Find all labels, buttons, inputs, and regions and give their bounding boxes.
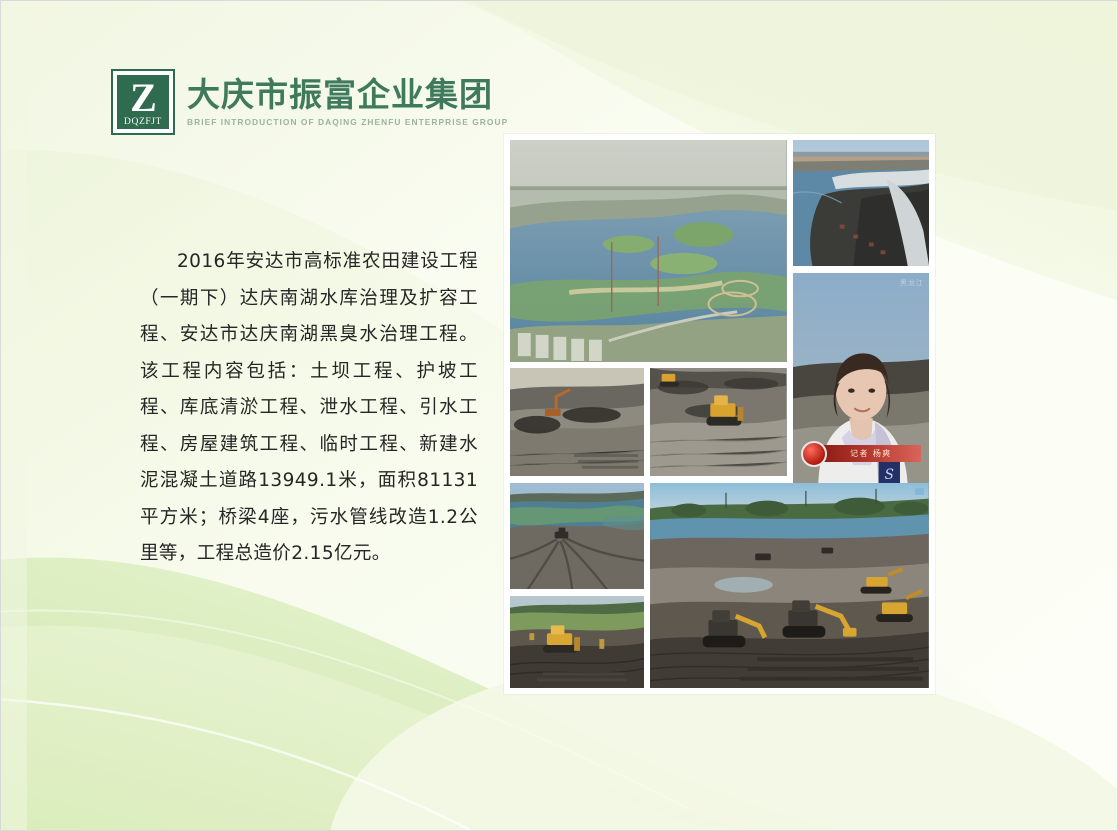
project-description-paragraph: 2016年安达市高标准农田建设工程（一期下）达庆南湖水库治理及扩容工程、安达市达… — [140, 244, 478, 573]
shoreline-aerial-art — [793, 140, 929, 266]
record-dot-icon — [801, 441, 827, 467]
photo-mass-earthworks — [650, 483, 929, 689]
paragraph-text: 2016年安达市高标准农田建设工程（一期下）达庆南湖水库治理及扩容工程、安达市达… — [140, 251, 478, 564]
photo-bulldozer-field — [510, 596, 644, 688]
reporter-name-bar: 记者 杨爽 — [821, 445, 921, 462]
mass-earthworks-art — [650, 483, 929, 689]
aerial-render-art — [510, 140, 787, 362]
logo-mark-icon: Z DQZFJT — [111, 69, 175, 135]
news-lower-third: 记者 杨爽 — [801, 438, 921, 470]
photo-dike-channel-aerial — [510, 483, 644, 590]
photo-lake-masterplan-render — [510, 140, 787, 362]
company-name-cn: 大庆市振富企业集团 — [187, 77, 508, 113]
channel-watermark: 黑龙江 — [900, 278, 924, 288]
presentation-slide: Z DQZFJT 大庆市振富企业集团 BRIEF INTRODUCTION OF… — [0, 0, 1118, 831]
photo-collage: S 黑龙江 记者 杨爽 — [504, 134, 935, 694]
photo-excavation-site-center — [650, 368, 786, 477]
excavation-left-art — [510, 368, 644, 477]
logo-abbreviation: DQZFJT — [124, 117, 162, 127]
company-logo-block: Z DQZFJT 大庆市振富企业集团 BRIEF INTRODUCTION OF… — [111, 69, 508, 135]
dike-channel-art — [510, 483, 644, 590]
video-source-tag — [915, 488, 924, 495]
company-name-en: BRIEF INTRODUCTION OF DAQING ZHENFU ENTE… — [187, 117, 508, 127]
bulldozer-field-art — [510, 596, 644, 688]
photo-news-reporter: S 黑龙江 记者 杨爽 — [793, 273, 929, 487]
photo-excavation-site-left — [510, 368, 644, 477]
photo-shoreline-aerial — [793, 140, 929, 266]
reporter-name: 记者 杨爽 — [850, 448, 892, 459]
logo-letter: Z — [130, 80, 156, 116]
excavation-center-art — [650, 368, 786, 477]
logo-text-group: 大庆市振富企业集团 BRIEF INTRODUCTION OF DAQING Z… — [187, 69, 508, 127]
